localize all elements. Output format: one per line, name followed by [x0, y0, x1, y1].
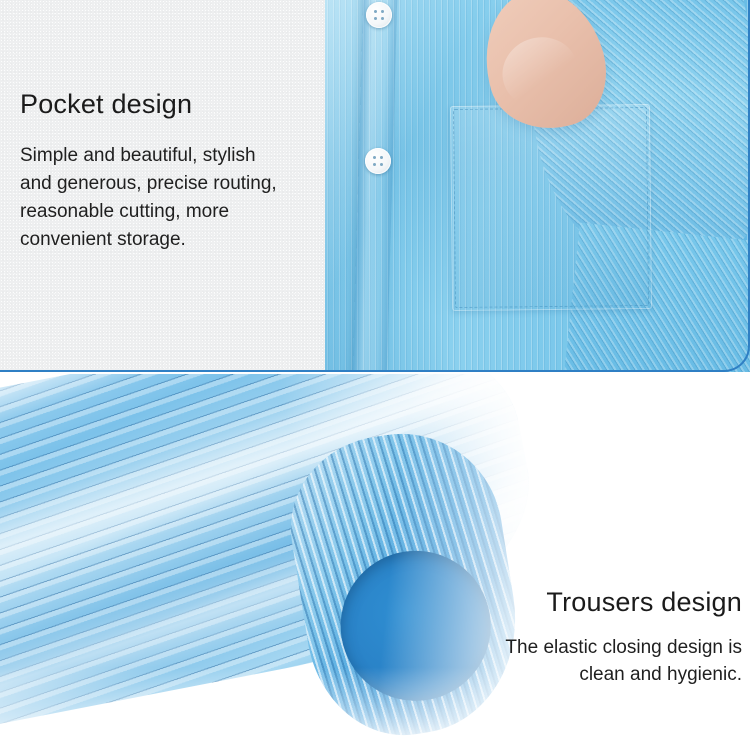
pocket-body-line-2: and generous, precise routing,: [20, 170, 320, 198]
pocket-heading: Pocket design: [20, 88, 320, 120]
trousers-body-line-1: The elastic closing design is: [412, 634, 742, 661]
trousers-heading: Trousers design: [412, 586, 742, 618]
patch-pocket: [450, 104, 652, 311]
pocket-text-block: Pocket design Simple and beautiful, styl…: [20, 88, 320, 254]
white-button-upper: [366, 2, 392, 28]
pocket-body-line-1: Simple and beautiful, stylish: [20, 142, 320, 170]
panel-pocket-design: Pocket design Simple and beautiful, styl…: [0, 0, 750, 372]
trousers-text-block: Trousers design The elastic closing desi…: [412, 586, 742, 688]
pocket-body-line-4: convenient storage.: [20, 226, 320, 254]
panel-trousers-design: Trousers design The elastic closing desi…: [0, 374, 750, 750]
pocket-body-line-3: reasonable cutting, more: [20, 198, 320, 226]
white-button-lower: [365, 148, 391, 174]
infographic-page: Pocket design Simple and beautiful, styl…: [0, 0, 750, 750]
trousers-body-line-2: clean and hygienic.: [412, 661, 742, 688]
smock-photo: [325, 0, 750, 372]
